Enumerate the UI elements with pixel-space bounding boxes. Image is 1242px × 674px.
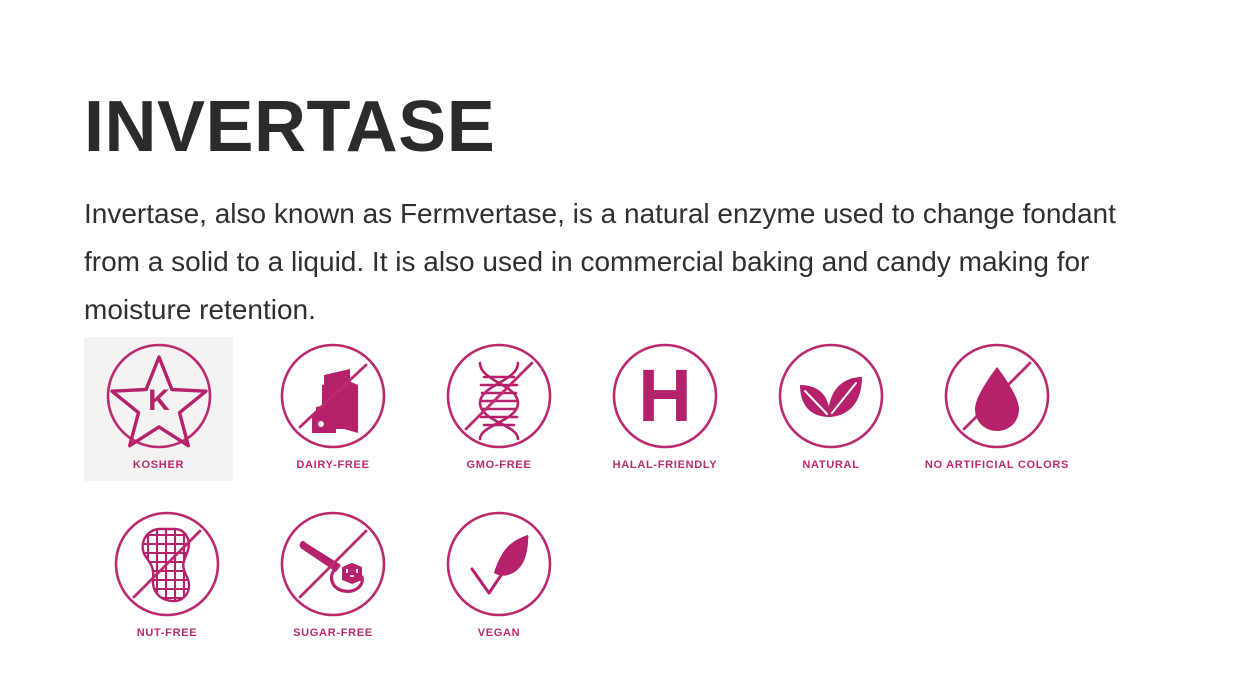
badge-label: NATURAL — [802, 459, 859, 471]
badge-item-gmo-free[interactable]: GMO-FREE — [416, 337, 582, 481]
nut-free-peanut-icon — [112, 509, 222, 619]
badge-label: VEGAN — [478, 627, 521, 639]
halal-friendly-h-icon: H — [610, 341, 720, 451]
product-info-page: INVERTASE Invertase, also known as Fermv… — [0, 0, 1242, 674]
badge-row: NUT-FREE — [84, 505, 1094, 649]
svg-text:K: K — [148, 384, 170, 417]
badge-item-kosher[interactable]: K KOSHER — [84, 337, 233, 481]
svg-text:H: H — [638, 354, 691, 437]
certification-badge-grid: K KOSHER — [84, 337, 1094, 649]
badge-label: HALAL-FRIENDLY — [613, 459, 718, 471]
natural-leaves-icon — [776, 341, 886, 451]
badge-item-sugar-free[interactable]: SUGAR-FREE — [250, 505, 416, 649]
sugar-free-spoon-cube-icon — [278, 509, 388, 619]
page-title: INVERTASE — [84, 84, 495, 170]
badge-item-halal-friendly[interactable]: H HALAL-FRIENDLY — [582, 337, 748, 481]
badge-label: SUGAR-FREE — [293, 627, 373, 639]
badge-item-no-artificial-colors[interactable]: NO ARTIFICIAL COLORS — [914, 337, 1080, 481]
badge-label: NUT-FREE — [137, 627, 198, 639]
gmo-free-dna-helix-icon — [444, 341, 554, 451]
badge-item-vegan[interactable]: VEGAN — [416, 505, 582, 649]
no-artificial-colors-droplet-icon — [942, 341, 1052, 451]
vegan-check-leaf-icon — [444, 509, 554, 619]
kosher-star-k-icon: K — [104, 341, 214, 451]
badge-label: KOSHER — [133, 459, 184, 471]
product-description: Invertase, also known as Fermvertase, is… — [84, 190, 1152, 334]
badge-label: DAIRY-FREE — [296, 459, 369, 471]
dairy-free-milk-carton-icon — [278, 341, 388, 451]
badge-label: NO ARTIFICIAL COLORS — [925, 459, 1069, 471]
badge-item-dairy-free[interactable]: DAIRY-FREE — [250, 337, 416, 481]
badge-item-natural[interactable]: NATURAL — [748, 337, 914, 481]
badge-label: GMO-FREE — [467, 459, 532, 471]
badge-row: K KOSHER — [84, 337, 1094, 481]
badge-item-nut-free[interactable]: NUT-FREE — [84, 505, 250, 649]
